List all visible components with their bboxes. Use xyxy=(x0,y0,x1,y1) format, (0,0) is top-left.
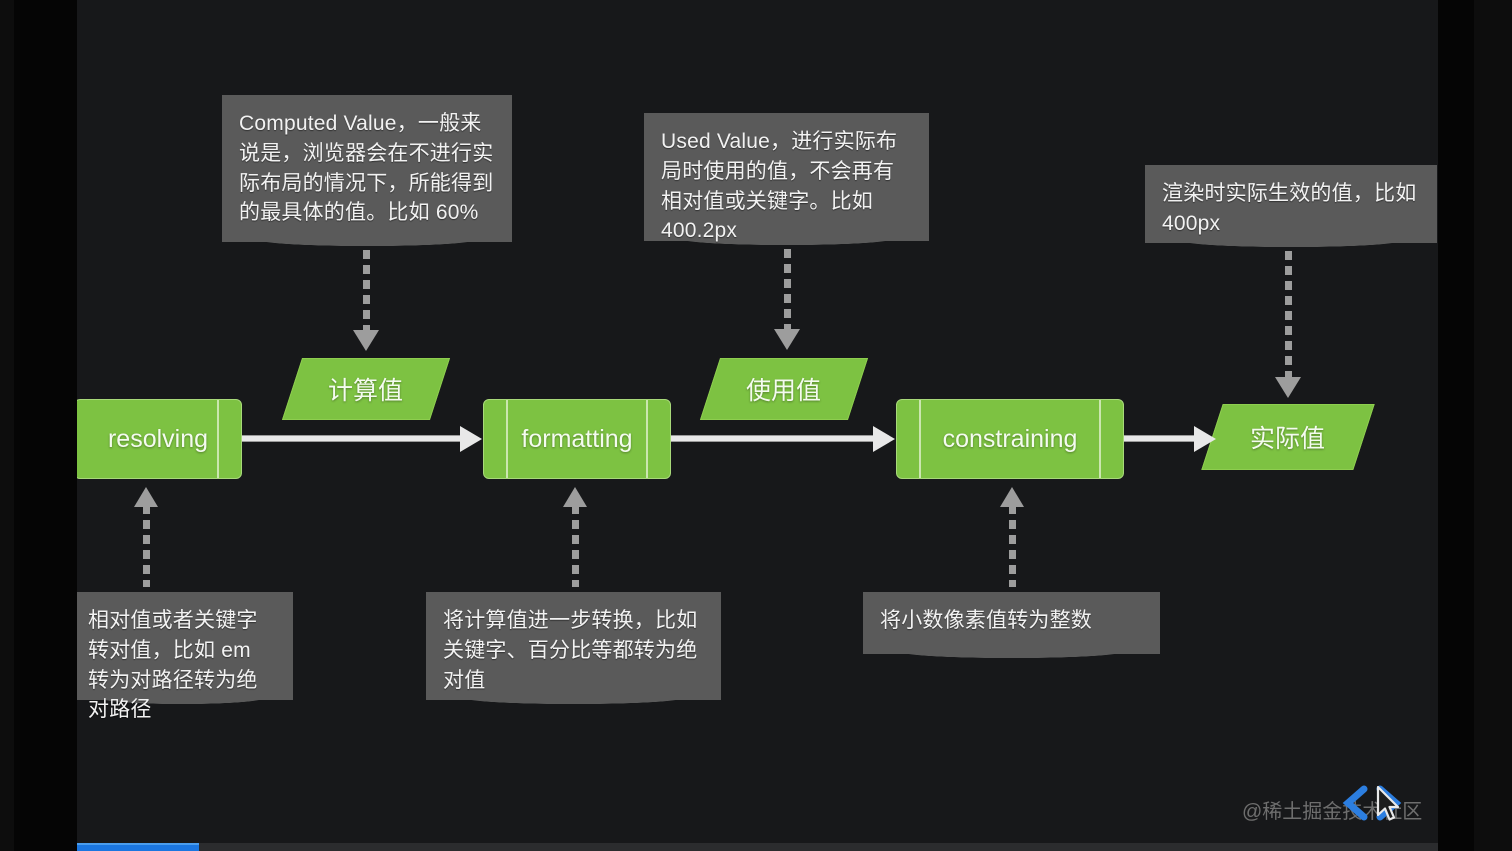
flow-arrowhead-constraining-to-actual-value xyxy=(1194,426,1216,452)
process-resolving-divider xyxy=(217,400,219,478)
flow-arrowhead-formatting-to-constraining xyxy=(873,426,895,452)
flow-line-constraining-to-actual-value xyxy=(1124,435,1194,442)
note-formatting: 将计算值进一步转换，比如关键字、百分比等都转为绝对值 xyxy=(426,592,721,700)
note-constraining-text: 将小数像素值转为整数 xyxy=(880,609,1092,632)
stage-used-value-label: 使用值 xyxy=(746,371,821,407)
process-constraining-divider-right xyxy=(1099,400,1101,478)
frame-edge-band-left-inner xyxy=(14,0,77,851)
dotted-line-computed-value xyxy=(363,250,370,332)
flow-arrowhead-resolving-to-formatting xyxy=(460,426,482,452)
process-constraining-label: constraining xyxy=(943,425,1078,454)
frame-edge-band-right-outer xyxy=(1474,0,1512,851)
dotted-arrowhead-computed-value xyxy=(353,330,379,351)
frame-edge-band-left-outer xyxy=(0,0,14,851)
progress-bar-track[interactable] xyxy=(77,843,1438,851)
note-resolving: 相对值或者关键字转对值，比如 em 转为对路径转为绝对路径 xyxy=(77,592,293,700)
flow-line-resolving-to-formatting xyxy=(242,435,460,442)
process-constraining: constraining xyxy=(896,399,1124,479)
note-actual-value-text: 渲染时实际生效的值，比如 400px xyxy=(1162,182,1416,235)
dotted-line-resolving-note xyxy=(143,505,150,587)
code-brackets-logo-icon xyxy=(1340,781,1404,825)
stage-computed-value-label: 计算值 xyxy=(328,371,403,407)
process-resolving: resolving xyxy=(77,399,242,479)
stage-actual-value: 实际值 xyxy=(1201,404,1374,470)
dotted-arrowhead-constraining-note xyxy=(1000,487,1024,507)
process-constraining-divider-left xyxy=(919,400,921,478)
process-formatting: formatting xyxy=(483,399,671,479)
note-resolving-text: 相对值或者关键字转对值，比如 em 转为对路径转为绝对路径 xyxy=(88,609,258,721)
note-constraining: 将小数像素值转为整数 xyxy=(863,592,1160,654)
note-computed-value-text: Computed Value，一般来说是，浏览器会在不进行实际布局的情况下，所能… xyxy=(239,112,493,224)
note-formatting-text: 将计算值进一步转换，比如关键字、百分比等都转为绝对值 xyxy=(443,609,697,692)
note-used-value: Used Value，进行实际布局时使用的值，不会再有相对值或关键字。比如 40… xyxy=(644,113,929,241)
dotted-arrowhead-formatting-note xyxy=(563,487,587,507)
note-used-value-text: Used Value，进行实际布局时使用的值，不会再有相对值或关键字。比如 40… xyxy=(661,130,897,242)
dotted-line-formatting-note xyxy=(572,505,579,587)
dotted-arrowhead-resolving-note xyxy=(134,487,158,507)
progress-bar-fill[interactable] xyxy=(77,843,199,851)
process-formatting-divider-right xyxy=(646,400,648,478)
process-resolving-label: resolving xyxy=(108,425,208,454)
flow-line-formatting-to-constraining xyxy=(671,435,873,442)
dotted-arrowhead-used-value xyxy=(774,329,800,350)
dotted-line-actual-value xyxy=(1285,251,1292,379)
note-computed-value: Computed Value，一般来说是，浏览器会在不进行实际布局的情况下，所能… xyxy=(222,95,512,242)
process-formatting-label: formatting xyxy=(521,425,632,454)
process-formatting-divider-left xyxy=(506,400,508,478)
video-player[interactable]: Computed Value，一般来说是，浏览器会在不进行实际布局的情况下，所能… xyxy=(0,0,1512,851)
dotted-arrowhead-actual-value xyxy=(1275,377,1301,398)
stage-actual-value-label: 实际值 xyxy=(1250,419,1325,455)
note-actual-value: 渲染时实际生效的值，比如 400px xyxy=(1145,165,1437,243)
dotted-line-constraining-note xyxy=(1009,505,1016,587)
dotted-line-used-value xyxy=(784,249,791,331)
diagram-stage: Computed Value，一般来说是，浏览器会在不进行实际布局的情况下，所能… xyxy=(77,0,1438,851)
frame-edge-band-right-inner xyxy=(1438,0,1474,851)
stage-computed-value: 计算值 xyxy=(282,358,450,420)
stage-used-value: 使用值 xyxy=(700,358,868,420)
